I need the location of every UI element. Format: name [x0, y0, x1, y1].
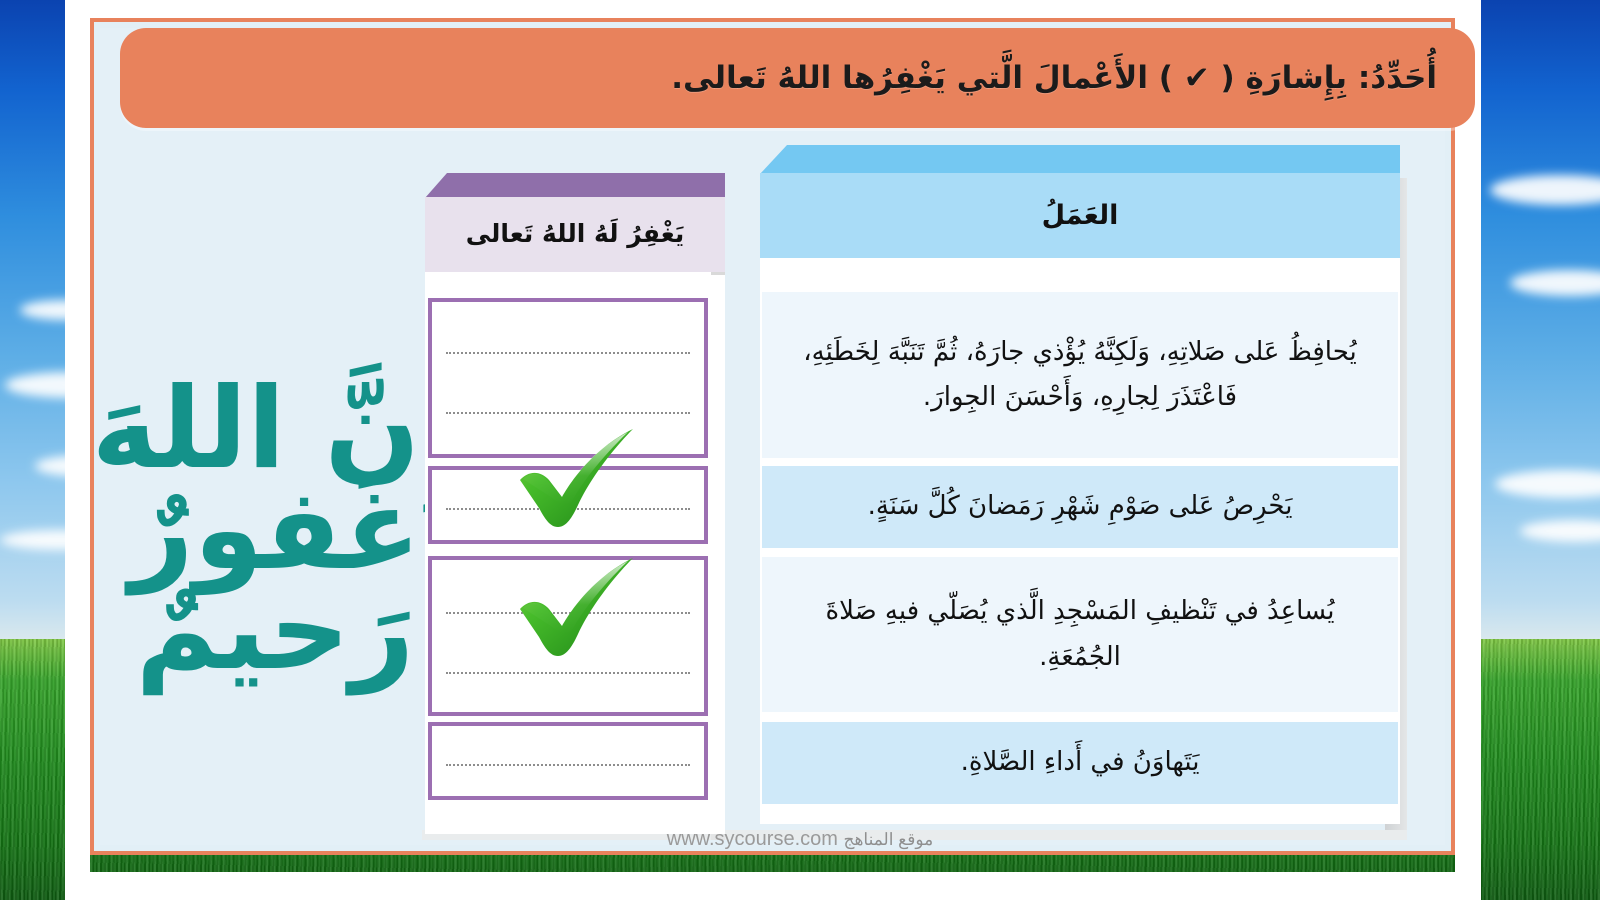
work-text: يُحافِظُ عَلى صَلاتِهِ، وَلَكِنَّهُ يُؤْ… [786, 330, 1374, 421]
writing-line [446, 672, 690, 674]
cloud-icon [1490, 175, 1600, 205]
calligraphy-line-3: رَحيمٌ [136, 577, 415, 683]
watermark-arabic: موقع المناهج [843, 830, 933, 849]
page-margin-top [65, 0, 1481, 18]
work-text: يُساعِدُ في تَنْظيفِ المَسْجِدِ الَّذي ي… [786, 589, 1374, 680]
page-margin-left [65, 0, 90, 900]
watermark: موقع المناهج www.sycourse.com [0, 828, 1600, 851]
check-cell-3[interactable] [428, 556, 708, 716]
writing-line [446, 764, 690, 766]
check-cell-4[interactable] [428, 722, 708, 800]
forgiven-header: يَغْفِرُ لَهُ اللهُ تَعالى [425, 197, 725, 272]
page-margin-bottom [65, 872, 1481, 900]
watermark-url: www.sycourse.com [667, 828, 838, 850]
table-row: يُحافِظُ عَلى صَلاتِهِ، وَلَكِنَّهُ يُؤْ… [762, 292, 1398, 458]
forgiven-header-label: يَغْفِرُ لَهُ اللهُ تَعالى [425, 197, 725, 272]
work-text: يَتَهاوَنُ في أَداءِ الصَّلاةِ. [961, 740, 1200, 786]
cloud-icon [1495, 470, 1600, 498]
instruction-banner: أُحَدِّدُ: بِإِشارَةِ ( ✔ ) الأَعْمالَ ا… [120, 28, 1475, 128]
ayah-calligraphy: إِنَّ اللهَ غَفورٌ رَحيمٌ [130, 225, 420, 835]
check-cell-1[interactable] [428, 298, 708, 458]
work-header: العَمَلُ [760, 173, 1400, 258]
page-margin-right [1455, 0, 1481, 900]
check-cell-2[interactable] [428, 466, 708, 544]
work-header-bevel [760, 145, 1400, 174]
cloud-icon [1510, 270, 1600, 296]
work-text: يَحْرِصُ عَلى صَوْمِ شَهْرِ رَمَضانَ كُل… [868, 484, 1293, 530]
work-header-label: العَمَلُ [760, 173, 1400, 258]
table-row: يُساعِدُ في تَنْظيفِ المَسْجِدِ الَّذي ي… [762, 557, 1398, 712]
writing-line [446, 612, 690, 614]
table-row: يَتَهاوَنُ في أَداءِ الصَّلاةِ. [762, 722, 1398, 804]
table-row: يَحْرِصُ عَلى صَوْمِ شَهْرِ رَمَضانَ كُل… [762, 466, 1398, 548]
writing-line [446, 352, 690, 354]
forgiven-header-bevel [425, 173, 725, 198]
instruction-text: أُحَدِّدُ: بِإِشارَةِ ( ✔ ) الأَعْمالَ ا… [671, 59, 1475, 98]
writing-line [446, 508, 690, 510]
cloud-icon [1520, 520, 1600, 542]
writing-line [446, 412, 690, 414]
